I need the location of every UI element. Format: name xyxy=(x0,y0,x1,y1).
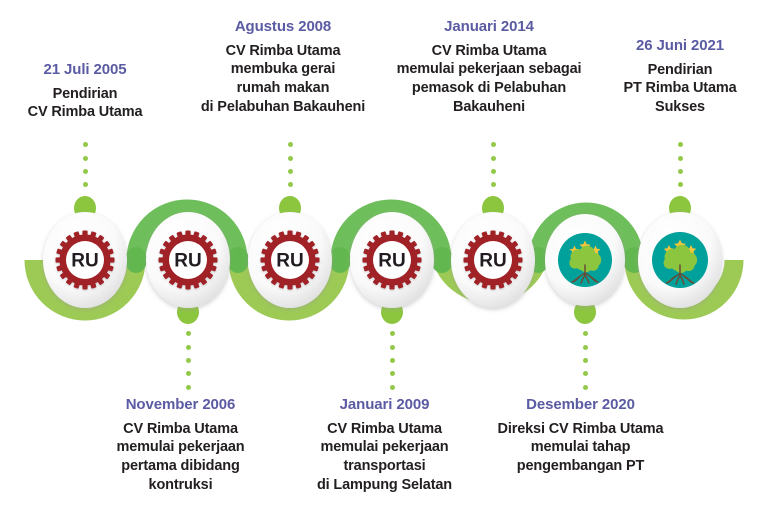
connector-dot xyxy=(390,385,395,390)
milestone-line: pertama dibidang xyxy=(93,457,268,476)
timeline-node-5[interactable]: RU xyxy=(451,212,535,308)
milestone-line: CV Rimba Utama xyxy=(0,103,170,122)
milestone-line: Pendirian xyxy=(0,85,170,104)
milestone-2014[interactable]: Januari 2014 CV Rimba Utama memulai peke… xyxy=(385,17,593,117)
milestone-date: 21 Juli 2005 xyxy=(0,60,170,80)
ru-logo-text: RU xyxy=(71,251,98,272)
milestone-2006[interactable]: November 2006 CV Rimba Utama memulai pek… xyxy=(93,395,268,495)
connector-milestone-2005 xyxy=(77,138,93,205)
ru-logo-text: RU xyxy=(479,251,506,272)
connector-dot xyxy=(491,142,496,147)
milestone-date: 26 Juni 2021 xyxy=(595,36,765,56)
milestone-2020[interactable]: Desember 2020 Direksi CV Rimba Utama mem… xyxy=(483,395,678,476)
milestone-line: memulai pekerjaan xyxy=(93,438,268,457)
connector-dot xyxy=(491,182,496,187)
milestone-date: Januari 2014 xyxy=(385,17,593,37)
milestone-line: rumah makan xyxy=(183,79,383,98)
connector-dot xyxy=(390,358,395,363)
milestone-line: memulai tahap xyxy=(483,438,678,457)
connector-milestone-2020 xyxy=(577,327,593,394)
milestone-date: Januari 2009 xyxy=(297,395,472,415)
connector-dot xyxy=(678,182,683,187)
milestone-line: Sukses xyxy=(595,98,765,117)
milestone-line: kontruksi xyxy=(93,476,268,495)
ru-logo-text: RU xyxy=(378,251,405,272)
connector-dot xyxy=(83,196,88,201)
milestone-line: transportasi xyxy=(297,457,472,476)
ru-logo-text: RU xyxy=(276,251,303,272)
timeline-node-2[interactable]: RU xyxy=(146,212,230,308)
connector-dot xyxy=(83,182,88,187)
timeline-node-7[interactable] xyxy=(638,212,722,308)
connector-milestone-2006 xyxy=(180,327,196,394)
connector-dot xyxy=(583,345,588,350)
connector-dot xyxy=(288,156,293,161)
connector-dot xyxy=(390,331,395,336)
milestone-date: Agustus 2008 xyxy=(183,17,383,37)
milestone-description: CV Rimba Utama membuka gerai rumah makan… xyxy=(183,42,383,117)
timeline-infographic: RU xyxy=(0,0,768,512)
milestone-2008[interactable]: Agustus 2008 CV Rimba Utama membuka gera… xyxy=(183,17,383,117)
connector-dot xyxy=(83,156,88,161)
connector-dot xyxy=(583,385,588,390)
milestone-line: di Lampung Selatan xyxy=(297,476,472,495)
milestone-line: pemasok di Pelabuhan xyxy=(385,79,593,98)
connector-dot xyxy=(186,371,191,376)
connector-dot xyxy=(83,169,88,174)
connector-dot xyxy=(583,371,588,376)
connector-dot xyxy=(288,196,293,201)
connector-dot xyxy=(288,169,293,174)
milestone-description: CV Rimba Utama memulai pekerjaan transpo… xyxy=(297,420,472,495)
connector-dot xyxy=(491,156,496,161)
connector-milestone-2014 xyxy=(485,138,501,205)
connector-dot xyxy=(491,169,496,174)
timeline-node-3[interactable]: RU xyxy=(248,212,332,308)
timeline-node-4[interactable]: RU xyxy=(350,212,434,308)
milestone-description: CV Rimba Utama memulai pekerjaan pertama… xyxy=(93,420,268,495)
milestone-line: Direksi CV Rimba Utama xyxy=(483,420,678,439)
connector-dot xyxy=(583,331,588,336)
tree-logo xyxy=(652,232,708,288)
connector-dot xyxy=(186,358,191,363)
milestone-line: membuka gerai xyxy=(183,60,383,79)
milestone-line: Pendirian xyxy=(595,61,765,80)
timeline-node-6[interactable] xyxy=(545,214,625,306)
ru-logo-text: RU xyxy=(174,251,201,272)
milestone-description: CV Rimba Utama memulai pekerjaan sebagai… xyxy=(385,42,593,117)
connector-dot xyxy=(678,169,683,174)
milestone-line: CV Rimba Utama xyxy=(93,420,268,439)
connector-dot xyxy=(583,358,588,363)
connector-dot xyxy=(390,345,395,350)
connector-dot xyxy=(678,196,683,201)
milestone-2021[interactable]: 26 Juni 2021 Pendirian PT Rimba Utama Su… xyxy=(595,36,765,117)
timeline-wave-layer: RU xyxy=(0,190,768,330)
milestone-line: CV Rimba Utama xyxy=(183,42,383,61)
milestone-date: Desember 2020 xyxy=(483,395,678,415)
milestone-line: CV Rimba Utama xyxy=(385,42,593,61)
milestone-date: November 2006 xyxy=(93,395,268,415)
connector-milestone-2009 xyxy=(384,327,400,394)
tree-logo xyxy=(558,233,612,287)
milestone-2005[interactable]: 21 Juli 2005 Pendirian CV Rimba Utama xyxy=(0,60,170,122)
milestone-line: CV Rimba Utama xyxy=(297,420,472,439)
milestone-2009[interactable]: Januari 2009 CV Rimba Utama memulai peke… xyxy=(297,395,472,495)
milestone-line: memulai pekerjaan sebagai xyxy=(385,60,593,79)
milestone-description: Pendirian CV Rimba Utama xyxy=(0,85,170,123)
connector-dot xyxy=(288,182,293,187)
connector-milestone-2008 xyxy=(282,138,298,205)
connector-dot xyxy=(491,196,496,201)
connector-dot xyxy=(186,385,191,390)
connector-dot xyxy=(390,371,395,376)
connector-dot xyxy=(678,142,683,147)
milestone-description: Pendirian PT Rimba Utama Sukses xyxy=(595,61,765,118)
milestone-line: memulai pekerjaan xyxy=(297,438,472,457)
milestone-line: di Pelabuhan Bakauheni xyxy=(183,98,383,117)
connector-dot xyxy=(186,331,191,336)
connector-milestone-2021 xyxy=(672,138,688,205)
milestone-description: Direksi CV Rimba Utama memulai tahap pen… xyxy=(483,420,678,477)
connector-dot xyxy=(83,142,88,147)
timeline-node-1[interactable]: RU xyxy=(43,212,127,308)
milestone-line: pengembangan PT xyxy=(483,457,678,476)
connector-dot xyxy=(288,142,293,147)
milestone-line: PT Rimba Utama xyxy=(595,79,765,98)
connector-dot xyxy=(678,156,683,161)
milestone-line: Bakauheni xyxy=(385,98,593,117)
timeline-wave-svg: RU xyxy=(0,190,768,330)
connector-dot xyxy=(186,345,191,350)
